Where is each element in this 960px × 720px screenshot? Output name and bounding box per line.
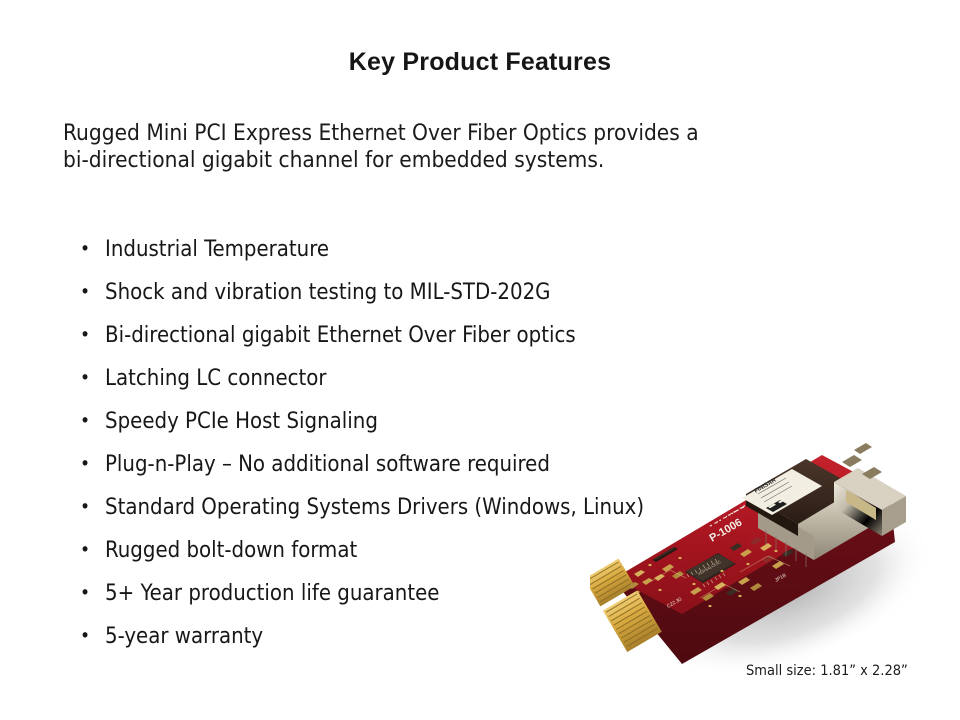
list-item-label: 5-year warranty <box>105 624 263 649</box>
list-item-label: Shock and vibration testing to MIL-STD-2… <box>105 280 551 305</box>
list-item: • Bi-directional gigabit Ethernet Over F… <box>78 314 778 357</box>
bullet-icon: • <box>80 572 90 615</box>
list-item: • Industrial Temperature <box>78 228 778 271</box>
product-image: VERSALOGIC <box>590 432 950 682</box>
list-item-label: Industrial Temperature <box>105 237 329 262</box>
page-title: Key Product Features <box>0 48 960 77</box>
list-item-label: Latching LC connector <box>105 366 327 391</box>
bullet-icon: • <box>80 271 90 314</box>
intro-line-2: bi-directional gigabit channel for embed… <box>63 147 803 174</box>
bullet-icon: • <box>80 357 90 400</box>
list-item-label: Rugged bolt-down format <box>105 538 357 563</box>
bullet-icon: • <box>80 529 90 572</box>
bullet-icon: • <box>80 400 90 443</box>
bullet-icon: • <box>80 486 90 529</box>
bullet-icon: • <box>80 615 90 658</box>
list-item-label: 5+ Year production life guarantee <box>105 581 439 606</box>
list-item-label: Plug-n-Play – No additional software req… <box>105 452 550 477</box>
list-item-label: Standard Operating Systems Drivers (Wind… <box>105 495 644 520</box>
bullet-icon: • <box>80 443 90 486</box>
list-item-label: Speedy PCIe Host Signaling <box>105 409 378 434</box>
list-item: • Shock and vibration testing to MIL-STD… <box>78 271 778 314</box>
list-item-label: Bi-directional gigabit Ethernet Over Fib… <box>105 323 576 348</box>
product-image-caption: Small size: 1.81” x 2.28” <box>746 663 908 679</box>
intro-paragraph: Rugged Mini PCI Express Ethernet Over Fi… <box>63 120 803 174</box>
intro-line-1: Rugged Mini PCI Express Ethernet Over Fi… <box>63 120 803 147</box>
bullet-icon: • <box>80 314 90 357</box>
list-item: • Latching LC connector <box>78 357 778 400</box>
bullet-icon: • <box>80 228 90 271</box>
